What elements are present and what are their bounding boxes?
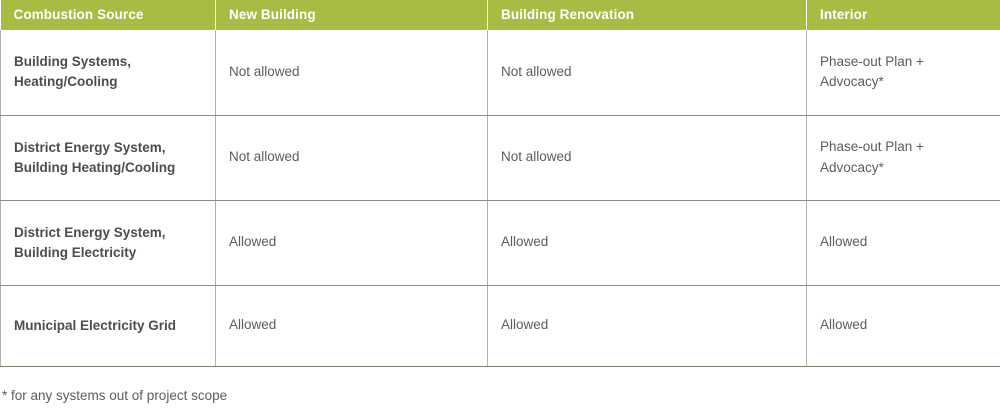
row-header-district-energy-heating: District Energy System, Building Heating… — [1, 115, 216, 200]
column-header-interior: Interior — [807, 0, 1000, 30]
cell-building-renovation-district-energy-heating: Not allowed — [488, 115, 807, 200]
table-header: Combustion Source New Building Building … — [1, 0, 1000, 30]
cell-new-building-building-systems: Not allowed — [216, 30, 488, 115]
table-row: District Energy System, Building Heating… — [1, 115, 1000, 200]
cell-interior-municipal-electricity-grid: Allowed — [807, 285, 1000, 366]
cell-interior-district-energy-electricity: Allowed — [807, 200, 1000, 285]
cell-building-renovation-municipal-electricity-grid: Allowed — [488, 285, 807, 366]
column-header-new-building: New Building — [216, 0, 488, 30]
row-header-building-systems: Building Systems, Heating/Cooling — [1, 30, 216, 115]
cell-new-building-municipal-electricity-grid: Allowed — [216, 285, 488, 366]
table-footnote: * for any systems out of project scope — [2, 387, 1000, 406]
column-header-building-renovation: Building Renovation — [488, 0, 807, 30]
row-header-municipal-electricity-grid: Municipal Electricity Grid — [1, 285, 216, 366]
cell-interior-building-systems: Phase-out Plan + Advocacy* — [807, 30, 1000, 115]
combustion-source-allowance-table: Combustion Source New Building Building … — [0, 0, 1000, 367]
table-header-row: Combustion Source New Building Building … — [1, 0, 1000, 30]
combustion-source-allowance-table-page: Combustion Source New Building Building … — [0, 0, 1000, 409]
table-body: Building Systems, Heating/Cooling Not al… — [1, 30, 1000, 366]
table-row: Municipal Electricity Grid Allowed Allow… — [1, 285, 1000, 366]
cell-interior-district-energy-heating: Phase-out Plan + Advocacy* — [807, 115, 1000, 200]
cell-building-renovation-district-energy-electricity: Allowed — [488, 200, 807, 285]
cell-building-renovation-building-systems: Not allowed — [488, 30, 807, 115]
cell-new-building-district-energy-electricity: Allowed — [216, 200, 488, 285]
table-row: Building Systems, Heating/Cooling Not al… — [1, 30, 1000, 115]
table-row: District Energy System, Building Electri… — [1, 200, 1000, 285]
cell-new-building-district-energy-heating: Not allowed — [216, 115, 488, 200]
column-header-combustion-source: Combustion Source — [1, 0, 216, 30]
row-header-district-energy-electricity: District Energy System, Building Electri… — [1, 200, 216, 285]
